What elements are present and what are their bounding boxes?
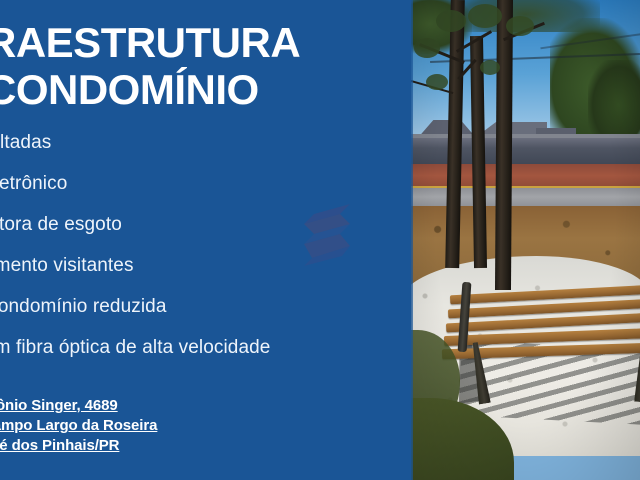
- slide-heading: RAESTRUTURA CONDOMÍNIO: [0, 22, 411, 111]
- feature-item-sewage-network: letora de esgoto: [0, 212, 411, 253]
- feature-item-fiber-internet: em fibra óptica de alta velocidade: [0, 335, 411, 376]
- heading-line-1: RAESTRUTURA: [0, 22, 411, 64]
- tree-foliage: [426, 74, 448, 90]
- tree-trunk: [495, 0, 513, 290]
- property-photo: [410, 0, 640, 480]
- address-line-neighborhood: Campo Largo da Roseira: [0, 416, 411, 436]
- bench-seat-slat: [442, 343, 640, 360]
- tree-foliage: [414, 38, 440, 58]
- feature-item-visitor-parking: amento visitantes: [0, 253, 411, 294]
- tree-foliage: [506, 16, 534, 36]
- info-panel: RAESTRUTURA CONDOMÍNIO faltadas eletrôni…: [0, 0, 411, 480]
- bench-leg: [634, 348, 640, 403]
- perimeter-wall: [410, 138, 640, 166]
- panel-edge-fade: [405, 0, 413, 480]
- promotional-slide: RAESTRUTURA CONDOMÍNIO faltadas eletrôni…: [0, 0, 640, 480]
- park-bench: [438, 280, 640, 400]
- address-line-city-state: osé dos Pinhais/PR: [0, 436, 411, 456]
- feature-list: faltadas eletrônico letora de esgoto ame…: [0, 130, 411, 376]
- feature-item-reduced-condo-fee: Condomínio reduzida: [0, 294, 411, 335]
- tree-foliage: [480, 60, 500, 75]
- tree-foliage: [436, 10, 466, 32]
- feature-item-electronic-gate: eletrônico: [0, 171, 411, 212]
- address-line-street: ntônio Singer, 4689: [0, 396, 411, 416]
- address-block: ntônio Singer, 4689 Campo Largo da Rosei…: [0, 396, 411, 456]
- feature-item-paved-streets: faltadas: [0, 130, 411, 171]
- heading-line-2: CONDOMÍNIO: [0, 69, 411, 111]
- tree-foliage: [468, 4, 502, 28]
